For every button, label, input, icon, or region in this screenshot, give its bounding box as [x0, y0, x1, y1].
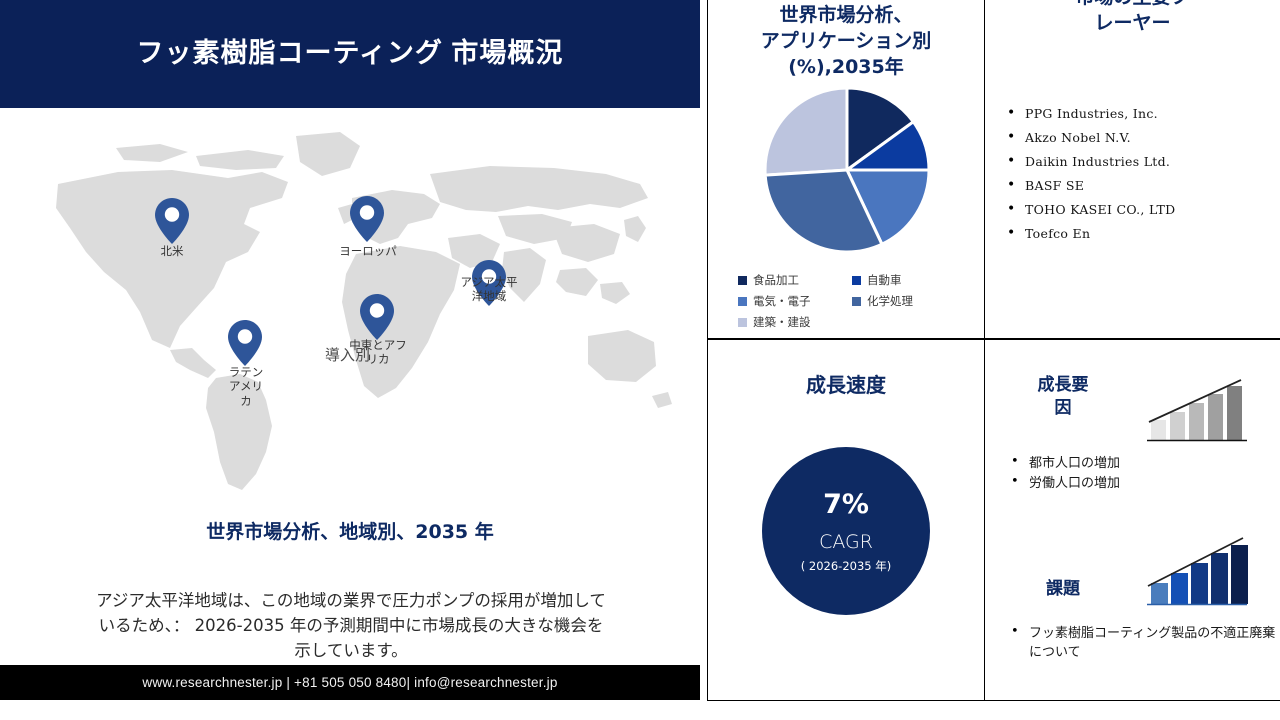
growth-drivers-title: 成長要 因 [1011, 374, 1115, 420]
map-description: アジア太平洋地域は、この地域の業界で圧力ポンプの採用が増加しているため、： 20… [95, 588, 607, 663]
map-pin-latin-america[interactable] [228, 320, 262, 366]
footer-contact: www.researchnester.jp | +81 505 050 8480… [142, 675, 557, 690]
pie-chart-svg [752, 83, 942, 258]
legend-label: 自動車 [867, 272, 902, 288]
list-item: Toefco En [999, 222, 1274, 246]
list-item: BASF SE [999, 174, 1274, 198]
list-item: PPG Industries, Inc. [999, 102, 1274, 126]
list-item: Akzo Nobel N.V. [999, 126, 1274, 150]
map-label-latin-america: ラテン アメリ カ [219, 365, 273, 408]
list-item: 都市人口の増加 [999, 454, 1269, 473]
legend-label: 化学処理 [867, 293, 913, 309]
growth-rate-panel: 成長速度 7% CAGR ( 2026-2035 年) [707, 339, 985, 701]
map-label-north-america: 北米 [130, 244, 214, 258]
legend-item[interactable]: 食品加工 [738, 272, 842, 288]
left-panel: フッ素樹脂コーティング 市場概況 [0, 0, 700, 720]
legend-swatch-icon [738, 318, 747, 327]
cagr-label: CAGR [819, 531, 873, 553]
pie-chart-area [708, 83, 985, 263]
legend-item[interactable]: 建築・建設 [738, 314, 842, 330]
legend-swatch-icon [852, 276, 861, 285]
title-banner: フッ素樹脂コーティング 市場概況 [0, 0, 700, 108]
legend-label: 食品加工 [753, 272, 799, 288]
legend-swatch-icon [852, 297, 861, 306]
challenges-list: フッ素樹脂コーティング製品の不適正廃棄について [999, 624, 1279, 663]
map-pin-middle-east-africa[interactable] [360, 294, 394, 340]
map-overlay-label: 導入別 [325, 344, 370, 365]
growth-drivers-challenges-panel: 成長要 因 都市人口の増加 労働人口の増加 課題 [984, 339, 1280, 701]
growth-rate-title: 成長速度 [708, 369, 984, 398]
pie-chart-title: 世界市場分析、 アプリケーション別 (%),2035年 [708, 0, 984, 81]
footer-bar: www.researchnester.jp | +81 505 050 8480… [0, 665, 700, 700]
key-players-list: PPG Industries, Inc. Akzo Nobel N.V. Dai… [999, 102, 1274, 246]
legend-item[interactable]: 自動車 [852, 272, 956, 288]
cagr-circle: 7% CAGR ( 2026-2035 年) [762, 447, 930, 615]
pie-slice-building-construction-2 [765, 88, 847, 175]
legend-item[interactable]: 化学処理 [852, 293, 956, 309]
map-caption: 世界市場分析、地域別、2035 年 [0, 517, 700, 544]
world-map-svg [0, 112, 700, 502]
map-pin-north-america[interactable] [155, 198, 189, 244]
list-item: フッ素樹脂コーティング製品の不適正廃棄について [999, 624, 1279, 662]
page-title: フッ素樹脂コーティング 市場概況 [137, 36, 564, 72]
list-item: 労働人口の増加 [999, 474, 1269, 493]
list-item: Daikin Industries Ltd. [999, 150, 1274, 174]
world-map: 北米 ヨーロッパ アジア太平 洋地域 ラテン アメリ カ 中東とアフ リカ [0, 112, 700, 502]
challenges-title: 課題 [1011, 578, 1115, 601]
legend-label: 電気・電子 [753, 293, 811, 309]
legend-swatch-icon [738, 276, 747, 285]
pie-legend: 食品加工 自動車 電気・電子 化学処理 建築・建設 [738, 272, 968, 330]
growth-drivers-list: 都市人口の増加 労働人口の増加 [999, 454, 1269, 494]
map-pin-europe[interactable] [350, 196, 384, 242]
infographic-canvas: フッ素樹脂コーティング 市場概況 [0, 0, 1280, 720]
legend-swatch-icon [738, 297, 747, 306]
cagr-value: 7% [823, 489, 869, 520]
map-label-europe: ヨーロッパ [323, 244, 413, 258]
legend-label: 建築・建設 [753, 314, 811, 330]
key-players-title: 市場の主要プ レーヤー [985, 0, 1280, 36]
list-item: TOHO KASEI CO., LTD [999, 198, 1274, 222]
pie-chart-panel: 世界市場分析、 アプリケーション別 (%),2035年 [707, 0, 985, 339]
cagr-period: ( 2026-2035 年) [801, 558, 891, 574]
legend-item[interactable]: 電気・電子 [738, 293, 842, 309]
map-label-asia-pacific: アジア太平 洋地域 [448, 275, 530, 304]
key-players-panel: 市場の主要プ レーヤー PPG Industries, Inc. Akzo No… [984, 0, 1280, 339]
growth-bar-chart-icon [1145, 376, 1249, 446]
challenges-bar-chart-icon [1145, 534, 1249, 610]
